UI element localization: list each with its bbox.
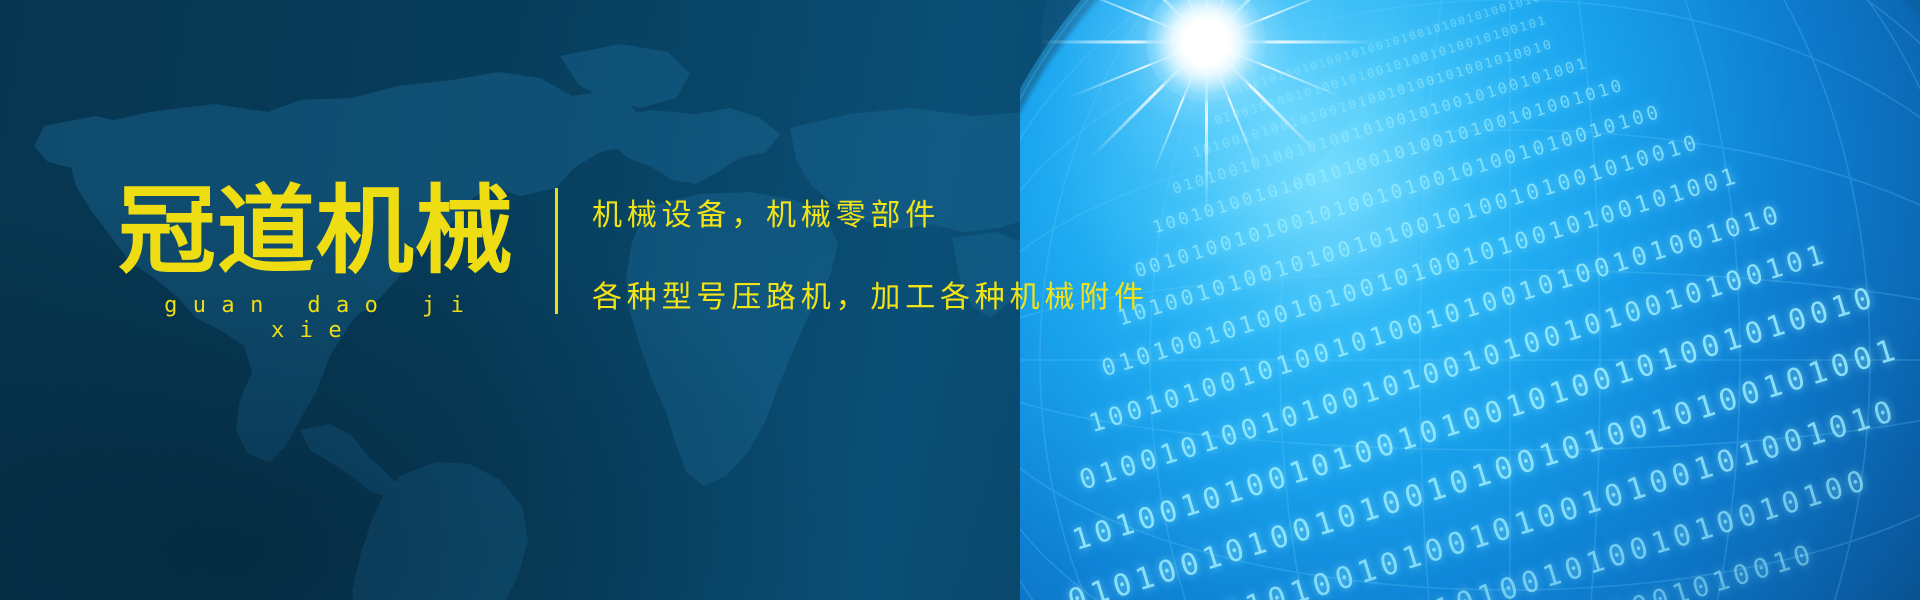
company-logo-text: 冠道机械 <box>118 183 557 281</box>
banner-content: 冠道机械 guan dao ji xie 机械设备，机械零部件 各种型号压路机，… <box>0 0 1920 600</box>
hero-banner: 1001010010100101001010010100101001010 01… <box>0 0 1920 600</box>
company-logo-pinyin: guan dao ji xie <box>118 293 510 343</box>
vertical-divider <box>555 188 558 314</box>
tagline-block: 机械设备，机械零部件 各种型号压路机，加工各种机械附件 <box>592 190 1332 316</box>
logo-block: 冠道机械 guan dao ji xie <box>118 183 548 343</box>
tagline-line-1: 机械设备，机械零部件 <box>592 190 1332 234</box>
tagline-line-2: 各种型号压路机，加工各种机械附件 <box>592 272 1332 316</box>
